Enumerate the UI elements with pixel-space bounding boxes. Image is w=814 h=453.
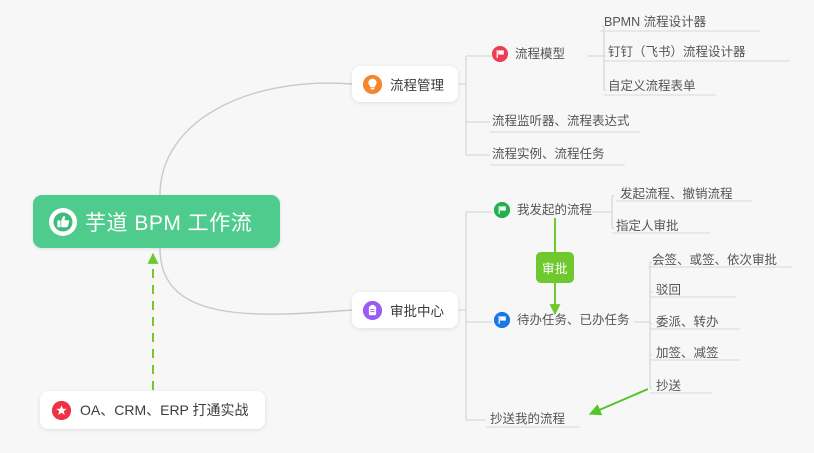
leaf-label-dingtalk-designer: 钉钉（飞书）流程设计器 xyxy=(608,44,746,60)
leaf-label-launch-cancel: 发起流程、撤销流程 xyxy=(620,186,733,202)
mindmap-canvas: 芋道 BPM 工作流 流程管理 审批中心 xyxy=(0,0,814,453)
node-label-todo-done-tasks: 待办任务、已办任务 xyxy=(517,312,630,328)
leaf-label-cc: 抄送 xyxy=(656,378,681,394)
leaf-label-reject: 驳回 xyxy=(656,282,681,298)
root-label: 芋道 BPM 工作流 xyxy=(85,207,252,237)
leaf-label-process-instance: 流程实例、流程任务 xyxy=(492,146,605,162)
edge-green-cc-to-ccme xyxy=(590,389,648,414)
node-label-my-started-process: 我发起的流程 xyxy=(517,202,592,218)
leaf-dingtalk-designer[interactable]: 钉钉（飞书）流程设计器 xyxy=(608,44,746,64)
leaf-cc-to-me[interactable]: 抄送我的流程 xyxy=(490,411,565,431)
callout-label-integration: OA、CRM、ERP 打通实战 xyxy=(80,400,249,420)
leaf-custom-form[interactable]: 自定义流程表单 xyxy=(608,78,696,98)
approval-flow-badge-label: 审批 xyxy=(542,258,568,277)
leaf-reject[interactable]: 驳回 xyxy=(656,282,681,302)
star-icon xyxy=(52,401,71,420)
leaf-add-remove-sign[interactable]: 加签、减签 xyxy=(656,345,719,365)
callout-node-integration[interactable]: OA、CRM、ERP 打通实战 xyxy=(40,391,265,429)
flag-icon xyxy=(494,202,510,218)
approval-flow-badge: 审批 xyxy=(536,252,574,283)
branch-label-process-management: 流程管理 xyxy=(390,74,444,94)
flag-icon xyxy=(492,46,508,62)
leaf-assignee-approval[interactable]: 指定人审批 xyxy=(616,218,679,238)
leaf-process-listener[interactable]: 流程监听器、流程表达式 xyxy=(492,113,630,133)
leaf-label-bpmn-designer: BPMN 流程设计器 xyxy=(604,14,706,30)
leaf-launch-cancel[interactable]: 发起流程、撤销流程 xyxy=(620,186,733,206)
leaf-label-delegate-transfer: 委派、转办 xyxy=(656,314,719,330)
leaf-countersign[interactable]: 会签、或签、依次审批 xyxy=(652,252,777,272)
node-label-process-model: 流程模型 xyxy=(515,46,565,62)
edge-root-to-process xyxy=(160,83,352,195)
flag-icon xyxy=(494,312,510,328)
node-my-started-process[interactable]: 我发起的流程 xyxy=(494,202,592,222)
leaf-label-cc-to-me: 抄送我的流程 xyxy=(490,411,565,427)
leaf-bpmn-designer[interactable]: BPMN 流程设计器 xyxy=(604,14,706,34)
root-node[interactable]: 芋道 BPM 工作流 xyxy=(33,195,280,248)
branch-node-process-management[interactable]: 流程管理 xyxy=(352,66,458,102)
branch-node-approval-center[interactable]: 审批中心 xyxy=(352,292,458,328)
thumbs-up-icon xyxy=(51,210,75,234)
leaf-label-process-listener: 流程监听器、流程表达式 xyxy=(492,113,630,129)
leaf-label-assignee-approval: 指定人审批 xyxy=(616,218,679,234)
leaf-process-instance[interactable]: 流程实例、流程任务 xyxy=(492,146,605,166)
node-todo-done-tasks[interactable]: 待办任务、已办任务 xyxy=(494,312,630,332)
edge-root-to-approval xyxy=(160,248,352,314)
leaf-cc[interactable]: 抄送 xyxy=(656,378,681,398)
lightbulb-icon xyxy=(363,75,382,94)
branch-label-approval-center: 审批中心 xyxy=(390,300,444,320)
leaf-label-custom-form: 自定义流程表单 xyxy=(608,78,696,94)
leaf-label-add-remove-sign: 加签、减签 xyxy=(656,345,719,361)
leaf-delegate-transfer[interactable]: 委派、转办 xyxy=(656,314,719,334)
node-process-model[interactable]: 流程模型 xyxy=(492,46,565,66)
leaf-label-countersign: 会签、或签、依次审批 xyxy=(652,252,777,268)
clipboard-icon xyxy=(363,301,382,320)
